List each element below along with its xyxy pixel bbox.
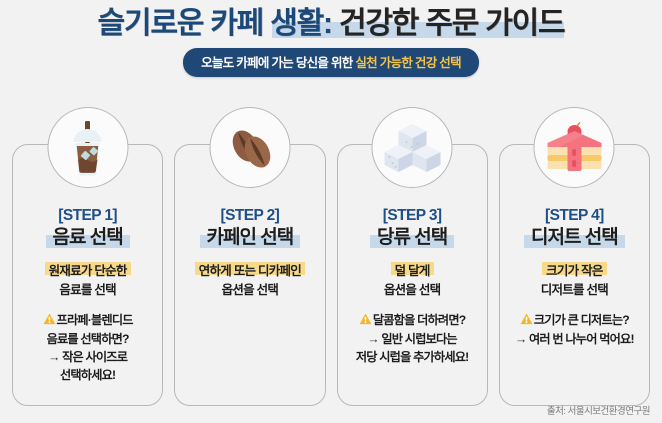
advice-strong-text: 연하게 또는 디카페인	[199, 264, 301, 278]
subtitle-main-text: 오늘도 카페에 가는 당신을 위한	[201, 56, 355, 70]
page-title-part2: 건강한 주문 가이드	[339, 7, 564, 40]
step-label: [STEP 1]	[19, 207, 156, 225]
advice-rest-text: 디저트를 선택	[506, 282, 643, 300]
step-warning: 달콤함을 더하려면? → 일반 시럽보다는 저당 시럽을 추가하세요!	[344, 311, 481, 366]
warning-triangle-icon	[43, 312, 56, 330]
warning-line-text: → 작은 사이즈로	[19, 348, 156, 366]
step-advice: 크기가 작은 디저트를 선택	[506, 260, 643, 300]
step-title-wrapper: 카페인 선택	[200, 228, 301, 249]
step-label: [STEP 2]	[181, 207, 318, 225]
step-card-4[interactable]: [STEP 4] 디저트 선택 크기가 작은 디저트를 선택 크기가 큰 디저트…	[499, 144, 650, 406]
warning-line-text: → 일반 시럽보다는	[344, 330, 481, 348]
step-label: [STEP 3]	[344, 207, 481, 225]
step-title: 당류 선택	[377, 227, 447, 248]
step-advice: 덜 달게 옵션을 선택	[344, 260, 481, 300]
page-header: 슬기로운 카페 생활: 건강한 주문 가이드 오늘도 카페에 가는 당신을 위한…	[0, 0, 662, 77]
cake-slice-icon	[534, 107, 615, 188]
advice-rest-text: 옵션을 선택	[181, 282, 318, 300]
source-credit: 출처: 서울시보건환경연구원	[547, 403, 650, 417]
step-title-wrapper: 디저트 선택	[524, 228, 625, 249]
advice-highlight-wrapper: 원재료가 단순한	[45, 260, 131, 283]
coffee-beans-icon	[209, 107, 290, 188]
page-title-part1: 슬기로운 카페 생활:	[98, 7, 339, 40]
step-title: 음료 선택	[53, 227, 123, 248]
warning-line-text: 달콤함을 더하려면?	[373, 313, 466, 327]
advice-highlight-wrapper: 덜 달게	[391, 260, 434, 283]
advice-rest-text: 옵션을 선택	[344, 282, 481, 300]
sugar-cubes-icon	[372, 107, 453, 188]
step-warning: 크기가 큰 디저트는? → 여러 번 나누어 먹어요!	[506, 311, 643, 348]
advice-strong-text: 원재료가 단순한	[49, 264, 127, 278]
warning-triangle-icon	[359, 312, 372, 330]
warning-line-text: 크기가 큰 디저트는?	[534, 313, 629, 327]
subtitle-accent-text: 실천 가능한 건강 선택	[355, 56, 461, 70]
step-label: [STEP 4]	[506, 207, 643, 225]
step-title-wrapper: 당류 선택	[370, 228, 454, 249]
warning-line-text: 프라페·블렌디드	[57, 313, 133, 327]
warning-line-text: 선택하세요!	[19, 366, 156, 384]
warning-line-text: 저당 시럽을 추가하세요!	[344, 348, 481, 366]
advice-strong-text: 크기가 작은	[546, 264, 602, 278]
warning-line-text: → 여러 번 나누어 먹어요!	[506, 330, 643, 348]
step-warning: 프라페·블렌디드 음료를 선택하면? → 작은 사이즈로 선택하세요!	[19, 311, 156, 384]
warning-triangle-icon	[520, 312, 533, 330]
step-card-3[interactable]: [STEP 3] 당류 선택 덜 달게 옵션을 선택 달콤함을 더하려면? → …	[337, 144, 488, 406]
steps-container: [STEP 1] 음료 선택 원재료가 단순한 음료를 선택 프라페·블렌디드 …	[12, 144, 650, 406]
page-title: 슬기로운 카페 생활: 건강한 주문 가이드	[94, 9, 569, 39]
warning-line-text: 음료를 선택하면?	[19, 330, 156, 348]
step-card-1[interactable]: [STEP 1] 음료 선택 원재료가 단순한 음료를 선택 프라페·블렌디드 …	[12, 144, 163, 406]
subtitle-pill: 오늘도 카페에 가는 당신을 위한 실천 가능한 건강 선택	[183, 48, 479, 77]
step-title-wrapper: 음료 선택	[46, 228, 130, 249]
iced-coffee-icon	[47, 107, 128, 188]
advice-highlight-wrapper: 연하게 또는 디카페인	[195, 260, 305, 283]
step-card-2[interactable]: [STEP 2] 카페인 선택 연하게 또는 디카페인 옵션을 선택	[174, 144, 325, 406]
advice-rest-text: 음료를 선택	[19, 282, 156, 300]
step-title: 카페인 선택	[207, 227, 294, 248]
step-advice: 원재료가 단순한 음료를 선택	[19, 260, 156, 300]
advice-strong-text: 덜 달게	[395, 264, 430, 278]
advice-highlight-wrapper: 크기가 작은	[542, 260, 606, 283]
step-title: 디저트 선택	[531, 227, 618, 248]
step-advice: 연하게 또는 디카페인 옵션을 선택	[181, 260, 318, 300]
